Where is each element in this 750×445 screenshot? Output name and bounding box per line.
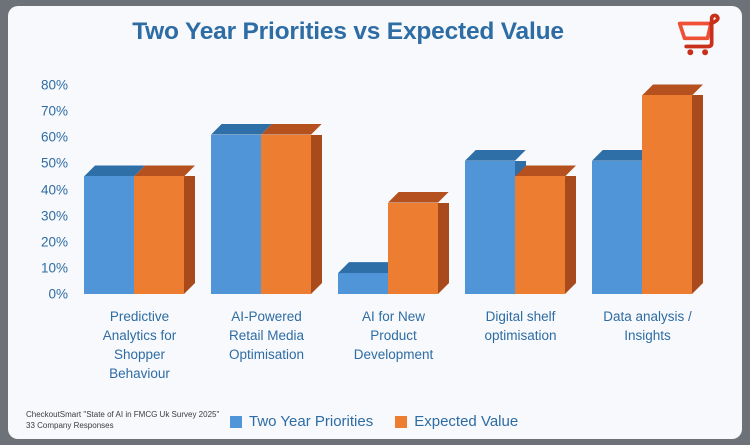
category-label-line: Data analysis / [584, 307, 712, 326]
category-label-line: Development [330, 345, 458, 364]
category-label-line: Predictive [76, 307, 204, 326]
bar-front-face [592, 161, 642, 294]
category-label-line: Digital shelf [457, 307, 585, 326]
legend-swatch-icon [230, 416, 242, 428]
legend-item-expected-value[interactable]: Expected Value [395, 413, 518, 430]
source-footnote: CheckoutSmart "State of AI in FMCG Uk Su… [26, 410, 219, 431]
y-axis: 80%70%60%50%40%30%20%10%0% [22, 6, 68, 439]
y-axis-tick-label: 80% [8, 78, 68, 93]
x-axis-category-label: PredictiveAnalytics forShopperBehaviour [76, 307, 204, 383]
bar-expected-value [515, 176, 565, 294]
bar-side-face [438, 203, 449, 294]
footnote-line-2: 33 Company Responses [26, 421, 219, 432]
y-axis-tick-label: 30% [8, 208, 68, 223]
bar-front-face [211, 135, 261, 294]
y-axis-tick-label: 40% [8, 182, 68, 197]
footnote-line-1: CheckoutSmart "State of AI in FMCG Uk Su… [26, 410, 219, 421]
bar-expected-value [388, 203, 438, 294]
category-label-line: AI for New [330, 307, 458, 326]
category-label-line: optimisation [457, 326, 585, 345]
bar-side-face [311, 135, 322, 294]
x-axis-category-label: Digital shelfoptimisation [457, 307, 585, 345]
category-label-line: Optimisation [203, 345, 331, 364]
bar-two-year-priorities [211, 135, 261, 294]
legend-label: Two Year Priorities [249, 413, 373, 430]
y-axis-tick-label: 60% [8, 130, 68, 145]
bar-front-face [84, 176, 134, 294]
bar-expected-value [134, 176, 184, 294]
slide-canvas: Two Year Priorities vs Expected Value 80… [8, 6, 742, 439]
y-axis-tick-label: 0% [8, 287, 68, 302]
bar-front-face [465, 161, 515, 294]
bar-top-face [642, 84, 703, 95]
bar-front-face [515, 176, 565, 294]
bar-two-year-priorities [465, 161, 515, 294]
category-label-line: Analytics for [76, 326, 204, 345]
bar-side-face [692, 95, 703, 294]
bar-front-face [134, 176, 184, 294]
y-axis-tick-label: 10% [8, 260, 68, 275]
bar-front-face [261, 135, 311, 294]
legend-swatch-icon [395, 416, 407, 428]
bar-front-face [642, 95, 692, 294]
bar-top-face [465, 150, 526, 161]
category-label-line: AI-Powered [203, 307, 331, 326]
bar-expected-value [261, 135, 311, 294]
bar-side-face [184, 176, 195, 294]
chart-legend: Two Year PrioritiesExpected Value [230, 413, 518, 430]
legend-item-two-year-priorities[interactable]: Two Year Priorities [230, 413, 373, 430]
bar-two-year-priorities [338, 273, 388, 294]
bar-top-face [388, 192, 449, 203]
y-axis-tick-label: 70% [8, 104, 68, 119]
category-label-line: Insights [584, 326, 712, 345]
bar-front-face [338, 273, 388, 294]
bar-expected-value [642, 95, 692, 294]
category-label-line: Product [330, 326, 458, 345]
x-axis-category-label: AI for NewProductDevelopment [330, 307, 458, 364]
y-axis-tick-label: 50% [8, 156, 68, 171]
category-label-line: Shopper [76, 345, 204, 364]
bar-side-face [565, 176, 576, 294]
x-axis-category-label: Data analysis /Insights [584, 307, 712, 345]
y-axis-tick-label: 20% [8, 234, 68, 249]
bar-two-year-priorities [592, 161, 642, 294]
bar-two-year-priorities [84, 176, 134, 294]
legend-label: Expected Value [414, 413, 518, 430]
bar-front-face [388, 203, 438, 294]
x-axis-category-label: AI-PoweredRetail MediaOptimisation [203, 307, 331, 364]
category-label-line: Retail Media [203, 326, 331, 345]
category-label-line: Behaviour [76, 364, 204, 383]
chart-plot-area: 80%70%60%50%40%30%20%10%0% PredictiveAna… [8, 6, 742, 439]
